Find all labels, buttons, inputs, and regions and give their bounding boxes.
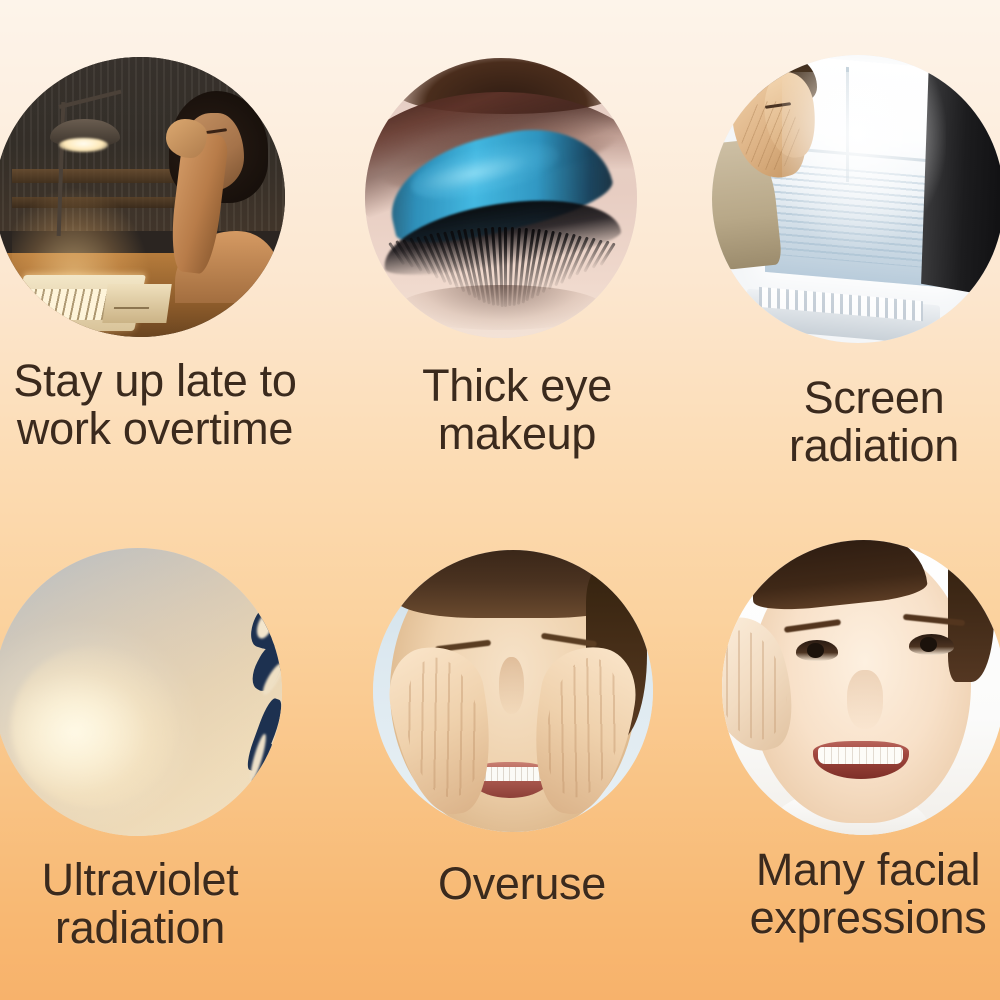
caption-ultraviolet-radiation: Ultraviolet radiation: [0, 856, 280, 951]
ultraviolet-photo: [0, 548, 282, 836]
nose: [847, 670, 884, 729]
nose: [499, 657, 524, 713]
finger-lines: [741, 101, 799, 170]
facial-expressions-scene: [722, 540, 1000, 835]
facial-expressions-photo: [722, 540, 1000, 835]
screen-radiation-scene: [712, 55, 1000, 343]
overuse-photo: [373, 550, 653, 832]
caption-many-facial-expressions: Many facial expressions: [730, 846, 1000, 941]
dark-silhouette: [190, 594, 282, 819]
caption-screen-radiation: Screen radiation: [746, 374, 1000, 469]
overuse-scene: [373, 550, 653, 832]
window-mullion-vertical: [846, 66, 849, 181]
book-text-line: [114, 307, 149, 309]
window-blinds: [770, 163, 945, 270]
night-work-photo: [0, 57, 285, 337]
eye-makeup-photo: [365, 58, 637, 338]
night-work-scene: [0, 57, 285, 337]
person-hand: [166, 119, 207, 158]
caption-overuse: Overuse: [382, 860, 662, 908]
laptop-lid: [921, 59, 1000, 298]
shelf-lower: [12, 197, 198, 208]
lower-lid: [398, 285, 605, 330]
pupil-left: [807, 643, 824, 658]
woman-hair-side: [948, 552, 993, 682]
screen-radiation-photo: [712, 55, 1000, 343]
caption-thick-eye-makeup: Thick eye makeup: [372, 362, 662, 457]
teeth: [818, 747, 903, 765]
eye-makeup-scene: [365, 58, 637, 338]
caption-stay-up-late: Stay up late to work overtime: [0, 357, 320, 452]
ultraviolet-scene: [0, 548, 282, 836]
open-book: [102, 284, 171, 323]
infographic-board: Stay up late to work overtime Thick eye …: [0, 0, 1000, 1000]
